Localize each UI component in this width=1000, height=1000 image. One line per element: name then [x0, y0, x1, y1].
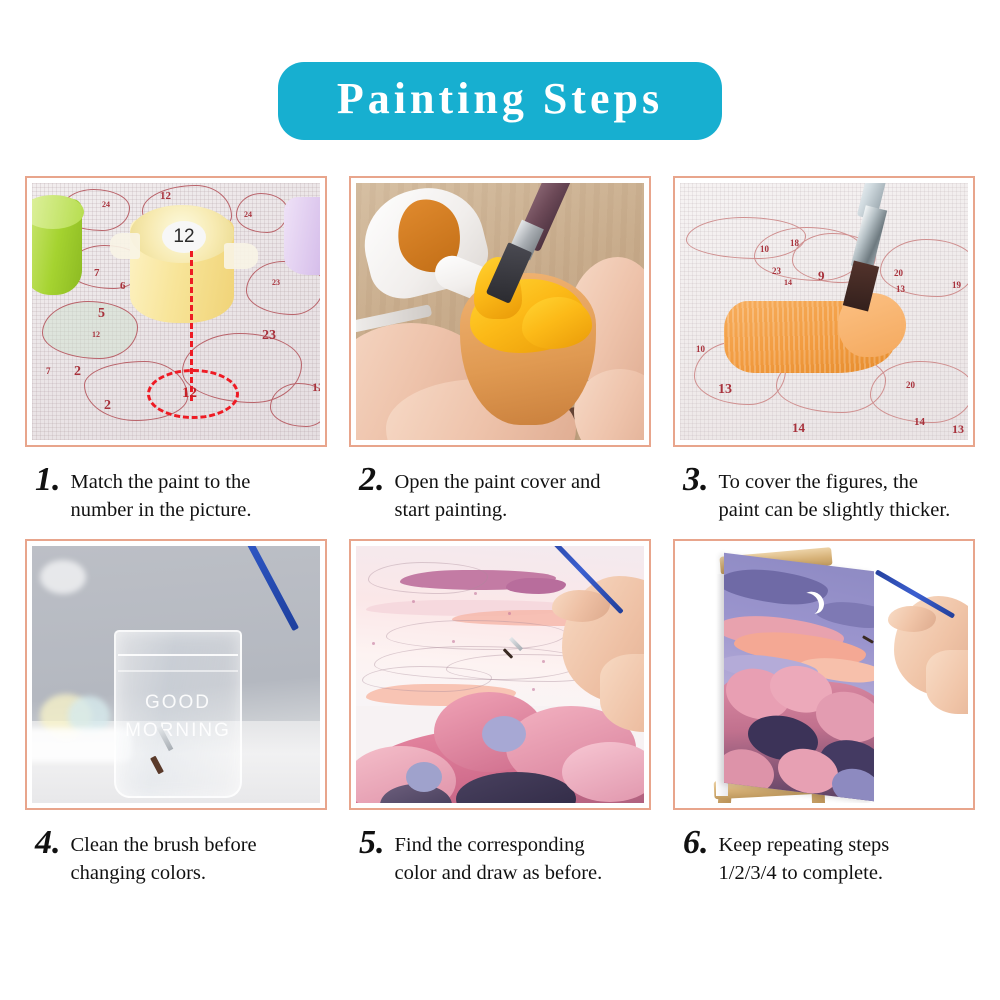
step-cell-5: 5. Find the correspondingcolor and draw … — [349, 539, 651, 902]
step-text-6: Keep repeating steps1/2/3/4 to complete. — [719, 826, 890, 888]
canvas-number: 13 — [952, 423, 964, 435]
step-text-line2: paint can be slightly thicker. — [719, 496, 951, 524]
step-photo-2 — [356, 183, 644, 440]
canvas-number: 12 — [312, 381, 320, 393]
step-text-line2: color and draw as before. — [395, 859, 603, 887]
step-text-line1: Clean the brush before — [71, 831, 257, 859]
step-number-3: 3. — [683, 463, 719, 497]
canvas-number: 2 — [104, 399, 111, 413]
step-photo-3: 18 10 23 14 9 20 13 10 20 13 14 19 20 14… — [680, 183, 968, 440]
step-text-2: Open the paint cover andstart painting. — [395, 463, 601, 525]
canvas-number: 24 — [102, 201, 110, 209]
canvas-number: 23 — [772, 267, 781, 276]
canvas-number: 6 — [120, 281, 126, 292]
step-caption-2: 2. Open the paint cover andstart paintin… — [349, 447, 651, 539]
step-text-line1: To cover the figures, the — [719, 468, 951, 496]
step-caption-4: 4. Clean the brush beforechanging colors… — [25, 810, 327, 902]
canvas-number: 13 — [718, 383, 732, 397]
canvas-number: 13 — [896, 285, 905, 294]
step-text-4: Clean the brush beforechanging colors. — [71, 826, 257, 888]
step-cell-3: 18 10 23 14 9 20 13 10 20 13 14 19 20 14… — [673, 176, 975, 539]
paint-pot-purple — [284, 197, 320, 275]
step-text-line2: number in the picture. — [71, 496, 252, 524]
step-photo-6 — [680, 546, 968, 803]
background-object — [40, 560, 86, 594]
step-number-6: 6. — [683, 826, 719, 860]
step-photo-frame-2 — [349, 176, 651, 447]
canvas-number: 14 — [784, 279, 792, 287]
blossom-blue-accent — [406, 762, 442, 792]
step-text-line2: changing colors. — [71, 859, 257, 887]
canvas-outline — [42, 301, 138, 359]
glass-text-line2: MORNING — [114, 720, 242, 742]
finger — [888, 606, 936, 632]
step-caption-3: 3. To cover the figures, thepaint can be… — [673, 447, 975, 539]
canvas-number: 10 — [696, 345, 705, 354]
step-text-5: Find the correspondingcolor and draw as … — [395, 826, 603, 888]
step-text-line2: start painting. — [395, 496, 601, 524]
step-photo-frame-6 — [673, 539, 975, 810]
step-photo-frame-5 — [349, 539, 651, 810]
step-caption-5: 5. Find the correspondingcolor and draw … — [349, 810, 651, 902]
steps-grid: 12 24 7 6 5 12 2 7 2 23 24 23 2 12 — [0, 176, 1000, 902]
step-caption-6: 6. Keep repeating steps1/2/3/4 to comple… — [673, 810, 975, 902]
canvas-number: 20 — [894, 269, 903, 278]
step-text-line1: Keep repeating steps — [719, 831, 890, 859]
canvas-target-number: 12 — [182, 386, 197, 401]
canvas-number: 14 — [792, 421, 805, 434]
glass-text-line1: GOOD — [114, 692, 242, 714]
step-text-line1: Open the paint cover and — [395, 468, 601, 496]
water-surface-line — [118, 654, 238, 656]
paint-pot-tab-right — [224, 243, 258, 269]
step-photo-1: 12 24 7 6 5 12 2 7 2 23 24 23 2 12 — [32, 183, 320, 440]
step-text-line2: 1/2/3/4 to complete. — [719, 859, 890, 887]
canvas-number: 9 — [818, 269, 825, 282]
canvas-number: 7 — [94, 268, 100, 279]
wrist — [926, 650, 968, 714]
canvas-number: 2 — [74, 365, 81, 379]
step-number-4: 4. — [35, 826, 71, 860]
canvas-number: 12 — [160, 191, 171, 202]
step-text-3: To cover the figures, thepaint can be sl… — [719, 463, 951, 525]
painting-canvas — [356, 546, 644, 803]
step-text-line1: Find the corresponding — [395, 831, 603, 859]
canvas-number: 20 — [906, 381, 915, 390]
step-number-2: 2. — [359, 463, 395, 497]
pot-number-text: 12 — [173, 226, 194, 248]
step-caption-1: 1. Match the paint to thenumber in the p… — [25, 447, 327, 539]
paint-pot-tab-left — [110, 233, 140, 259]
water-surface-line-2 — [118, 670, 238, 672]
canvas-number: 24 — [244, 211, 252, 219]
step-cell-4: GOOD MORNING 4. Clean the brush beforech… — [25, 539, 327, 902]
canvas-number: 23 — [272, 279, 280, 287]
canvas-number: 7 — [46, 367, 51, 376]
canvas-number: 10 — [760, 245, 769, 254]
finished-painting — [724, 553, 874, 801]
canvas-number: 14 — [914, 417, 925, 428]
step-text-line1: Match the paint to the — [71, 468, 252, 496]
step-photo-frame-1: 12 24 7 6 5 12 2 7 2 23 24 23 2 12 — [25, 176, 327, 447]
step-text-1: Match the paint to thenumber in the pict… — [71, 463, 252, 525]
step-photo-5 — [356, 546, 644, 803]
canvas-number: 18 — [790, 239, 799, 248]
canvas-number: 5 — [98, 307, 105, 321]
blossom-blue-accent — [482, 716, 526, 752]
step-cell-1: 12 24 7 6 5 12 2 7 2 23 24 23 2 12 — [25, 176, 327, 539]
title-banner: Painting Steps — [278, 62, 722, 140]
canvas-number: 12 — [92, 331, 100, 339]
header: Painting Steps — [0, 0, 1000, 140]
canvas-number: 19 — [952, 281, 961, 290]
step-photo-frame-4: GOOD MORNING — [25, 539, 327, 810]
canvas-number: 23 — [262, 329, 276, 343]
step-number-1: 1. — [35, 463, 71, 497]
step-cell-6: 6. Keep repeating steps1/2/3/4 to comple… — [673, 539, 975, 902]
step-photo-frame-3: 18 10 23 14 9 20 13 10 20 13 14 19 20 14… — [673, 176, 975, 447]
pot-number-label: 12 — [162, 221, 206, 253]
page-title: Painting Steps — [324, 76, 676, 122]
step-photo-4: GOOD MORNING — [32, 546, 320, 803]
step-number-5: 5. — [359, 826, 395, 860]
step-cell-2: 2. Open the paint cover andstart paintin… — [349, 176, 651, 539]
